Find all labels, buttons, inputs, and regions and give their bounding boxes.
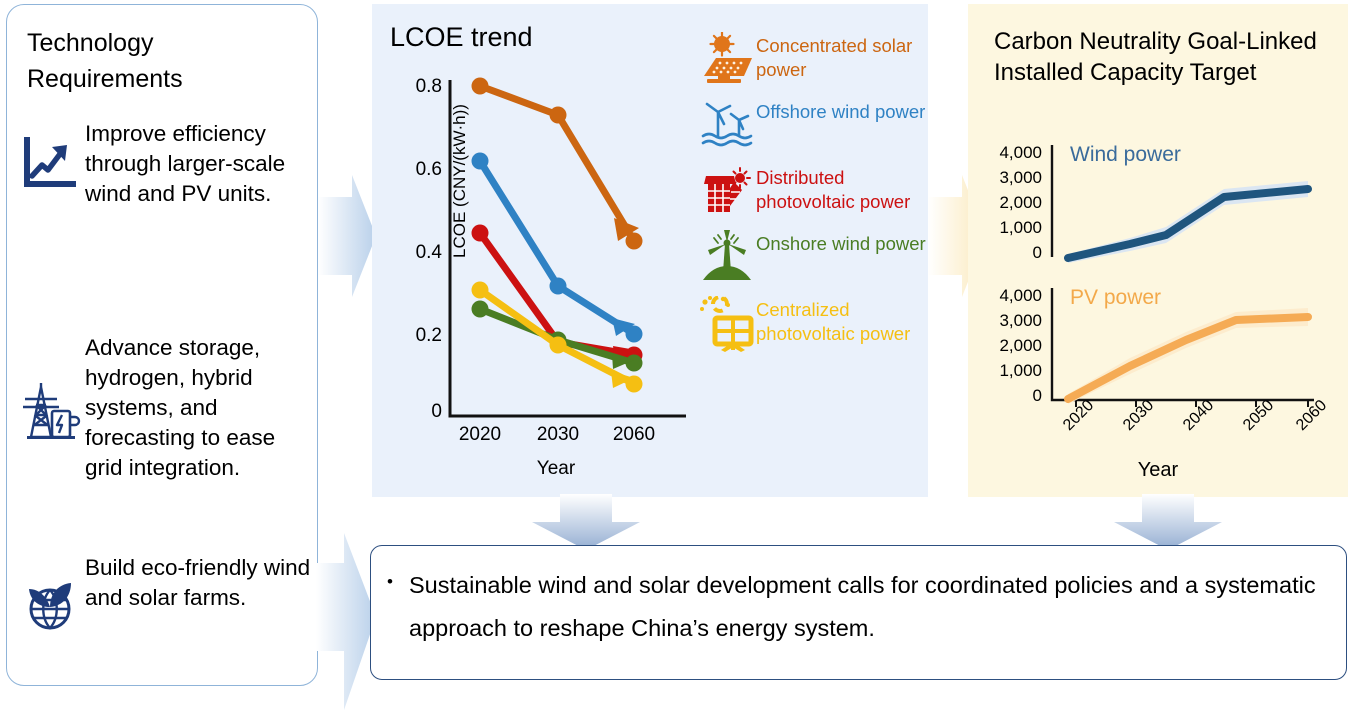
arrow-right-down	[1110, 494, 1226, 552]
legend-label: Centralized photovoltaic power	[756, 296, 926, 346]
wind-ytick: 2,000	[978, 193, 1042, 213]
pv-ytick: 0	[978, 386, 1042, 406]
line-chart-growth-icon	[17, 137, 83, 191]
distributed-pv-building-icon	[698, 164, 756, 218]
eco-globe-leaf-icon	[17, 575, 83, 633]
pv-ytick: 3,000	[978, 311, 1042, 331]
legend-label: Onshore wind power	[756, 230, 926, 256]
pv-ytick: 2,000	[978, 336, 1042, 356]
wind-capacity-chart: 4,000 3,000 2,000 1,000 0 Wind power	[978, 139, 1338, 274]
lcoe-panel-title: LCOE trend	[390, 22, 533, 53]
arrow-left-to-middle	[316, 175, 378, 297]
wind-ytick: 0	[978, 243, 1042, 263]
lcoe-x-axis-label: Year	[456, 458, 656, 480]
power-grid-battery-icon	[17, 381, 83, 443]
pv-ytick: 1,000	[978, 361, 1042, 381]
requirement-item-storage: Advance storage, hydrogen, hybrid system…	[17, 333, 312, 483]
wind-ytick: 3,000	[978, 168, 1042, 188]
lcoe-xtick: 2030	[518, 424, 598, 446]
legend-label: Offshore wind power	[756, 98, 925, 124]
lcoe-panel: LCOE trend LCOE (CNY/(kW·h)) 0.8 0.6 0.4…	[372, 4, 928, 497]
requirement-text: Build eco-friendly wind and solar farms.	[83, 553, 312, 613]
lcoe-legend: Concentrated solar power	[698, 32, 926, 362]
conclusion-box: • Sustainable wind and solar development…	[370, 545, 1347, 680]
legend-item-onshore-wind: Onshore wind power	[698, 230, 926, 288]
infographic-canvas: Technology Requirements Improve efficien…	[0, 0, 1352, 710]
offshore-wind-turbine-icon	[698, 98, 756, 152]
lcoe-chart: LCOE (CNY/(kW·h)) 0.8 0.6 0.4 0.2 0	[386, 66, 696, 466]
pv-capacity-chart: 4,000 3,000 2,000 1,000 0 PV power 2020 …	[978, 282, 1338, 457]
legend-label: Concentrated solar power	[756, 32, 926, 82]
arrow-middle-down	[528, 494, 644, 552]
legend-item-offshore-wind: Offshore wind power	[698, 98, 926, 156]
onshore-wind-turbine-icon	[698, 230, 756, 284]
requirement-text: Advance storage, hydrogen, hybrid system…	[83, 333, 312, 483]
concentrated-solar-power-icon	[698, 32, 756, 86]
lcoe-xtick: 2060	[594, 424, 674, 446]
requirement-item-efficiency: Improve efficiency through larger-scale …	[17, 119, 312, 209]
requirement-text: Improve efficiency through larger-scale …	[83, 119, 312, 209]
conclusion-text: Sustainable wind and solar development c…	[409, 564, 1324, 650]
left-card-title: Technology Requirements	[27, 25, 297, 97]
left-card-title-text: Technology Requirements	[27, 29, 183, 93]
legend-label: Distributed photovoltaic power	[756, 164, 926, 214]
lcoe-xtick: 2020	[440, 424, 520, 446]
centralized-pv-panel-icon	[698, 296, 756, 352]
legend-item-distributed-pv: Distributed photovoltaic power	[698, 164, 926, 222]
capacity-panel-title: Carbon Neutrality Goal-Linked Installed …	[994, 26, 1339, 88]
wind-ytick: 1,000	[978, 218, 1042, 238]
wind-ytick: 4,000	[978, 143, 1042, 163]
legend-item-concentrated-solar: Concentrated solar power	[698, 32, 926, 90]
pv-ytick: 4,000	[978, 286, 1042, 306]
requirement-item-eco: Build eco-friendly wind and solar farms.	[17, 553, 312, 633]
bullet-icon: •	[387, 572, 393, 592]
technology-requirements-card: Technology Requirements Improve efficien…	[6, 4, 318, 686]
legend-item-centralized-pv: Centralized photovoltaic power	[698, 296, 926, 354]
capacity-target-panel: Carbon Neutrality Goal-Linked Installed …	[968, 4, 1348, 497]
capacity-x-axis-label: Year	[1068, 459, 1248, 482]
